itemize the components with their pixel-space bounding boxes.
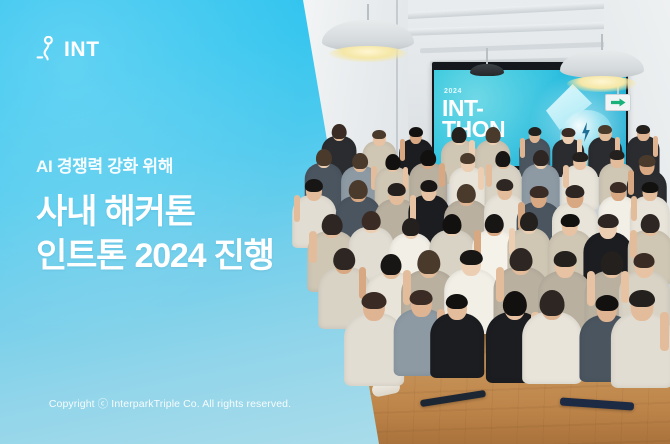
person-hair bbox=[554, 251, 577, 266]
person-hair bbox=[629, 290, 655, 308]
person-hair bbox=[641, 214, 660, 233]
person-hair bbox=[332, 124, 347, 139]
person-hair bbox=[421, 150, 437, 166]
person-hair bbox=[352, 153, 368, 169]
person-hair bbox=[572, 152, 588, 163]
headline-block: AI 경쟁력 강화 위해 사내 해커톤 인트톤 2024 진행 bbox=[36, 152, 336, 278]
person-hair bbox=[387, 183, 406, 196]
person-hair bbox=[420, 180, 437, 192]
person-hair bbox=[561, 214, 580, 227]
person-hair bbox=[610, 182, 626, 193]
person-hair bbox=[565, 185, 584, 198]
headline-title-line1: 사내 해커톤 bbox=[36, 191, 336, 235]
person-hair bbox=[495, 151, 510, 167]
person-hair bbox=[373, 130, 387, 139]
brand-logo[interactable]: INT bbox=[36, 36, 100, 62]
person-torso bbox=[430, 313, 484, 378]
person-hair bbox=[634, 253, 655, 267]
copyright-text: Copyright ⓒ InterparkTriple Co. All righ… bbox=[0, 396, 340, 411]
banner-card: 2024 INT- THON HACKATHON bbox=[0, 0, 670, 444]
person-hair bbox=[349, 180, 368, 199]
person-arm bbox=[660, 312, 669, 351]
person-hair bbox=[562, 128, 575, 137]
person-hair bbox=[322, 214, 343, 235]
person-hair bbox=[305, 179, 323, 191]
headline-eyebrow: AI 경쟁력 강화 위해 bbox=[36, 152, 336, 177]
person-hair bbox=[540, 290, 565, 316]
person-arm bbox=[309, 231, 317, 262]
person-hair bbox=[520, 212, 538, 231]
person-hair bbox=[442, 214, 461, 234]
person-hair bbox=[362, 292, 387, 309]
person-hair bbox=[452, 127, 467, 142]
person-hair bbox=[381, 254, 402, 276]
person-hair bbox=[460, 250, 482, 265]
person-hair bbox=[533, 150, 549, 167]
person-hair bbox=[509, 248, 532, 272]
person-hair bbox=[528, 127, 541, 136]
person-hair bbox=[409, 127, 423, 137]
person-hair bbox=[530, 186, 549, 199]
person-hair bbox=[598, 214, 619, 228]
person-hair bbox=[362, 211, 381, 230]
person-hair bbox=[333, 248, 355, 270]
person-hair bbox=[385, 154, 400, 170]
person-hair bbox=[457, 184, 475, 203]
brand-logo-text: INT bbox=[64, 39, 100, 60]
person-hair bbox=[485, 127, 500, 142]
person-hair bbox=[485, 214, 504, 233]
person bbox=[430, 294, 484, 384]
person-torso bbox=[522, 312, 582, 385]
person-hair bbox=[402, 218, 420, 237]
person-hair bbox=[446, 294, 468, 309]
person-hair bbox=[636, 125, 650, 134]
person-hair bbox=[417, 250, 440, 274]
person-hair bbox=[460, 153, 476, 164]
person-hair bbox=[641, 182, 658, 193]
int-figure-mark-icon bbox=[36, 36, 58, 62]
person-hair bbox=[638, 155, 655, 166]
person-hair bbox=[316, 149, 332, 166]
person bbox=[522, 290, 582, 390]
headline-title-line2: 인트톤 2024 진행 bbox=[36, 235, 336, 279]
person-hair bbox=[598, 125, 612, 134]
person-hair bbox=[496, 179, 513, 191]
person bbox=[611, 289, 670, 393]
person-hair bbox=[610, 150, 625, 160]
person-arm bbox=[294, 195, 301, 223]
